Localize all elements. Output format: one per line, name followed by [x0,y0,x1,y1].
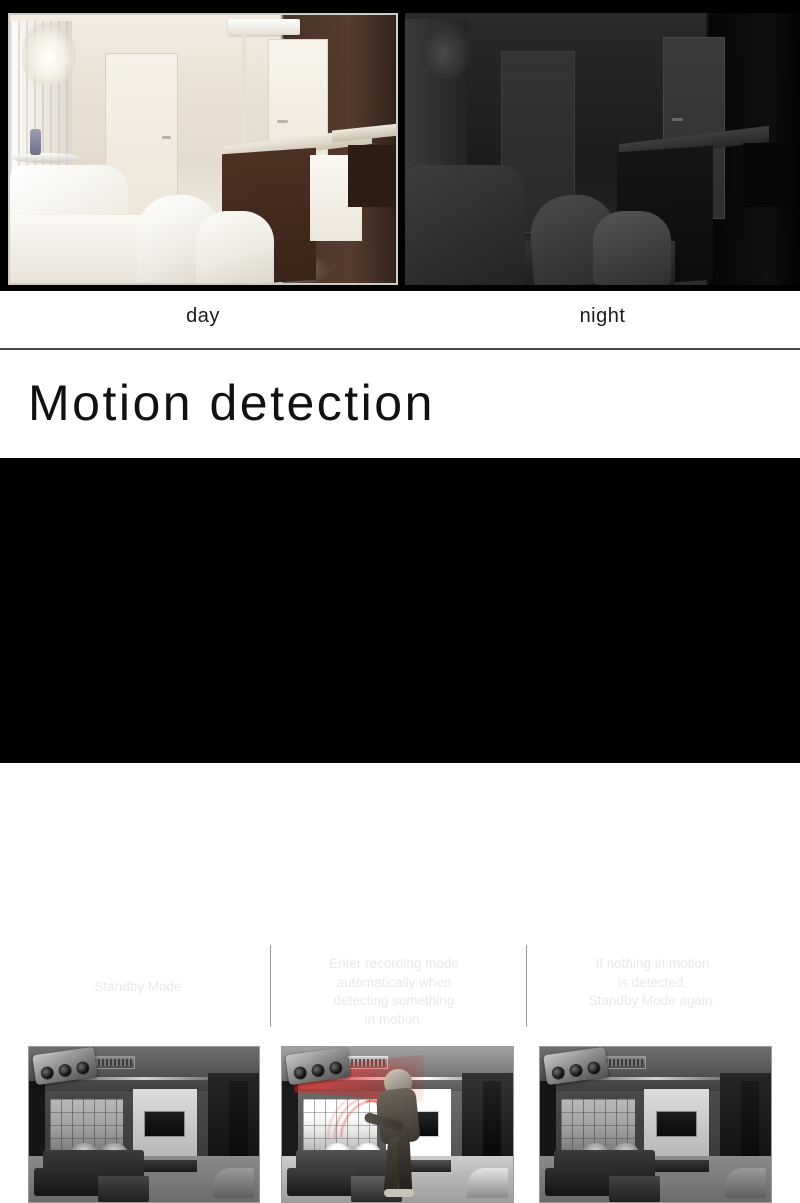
television [656,1111,698,1137]
vase [30,129,41,155]
shelf-niche-night [743,143,793,207]
intruder-figure [370,1069,432,1197]
night-camera-view [405,13,800,285]
glass-table [12,153,80,163]
figure-foot [384,1189,414,1197]
stairs [725,1168,767,1198]
left-dark-wall [29,1081,45,1161]
sofa-night [405,165,525,285]
product-feature-page: day night Motion detection Standby Mode … [0,0,800,800]
night-scene-image [405,13,800,285]
sofa-side [287,1168,356,1196]
comparison-caption-band: day night [0,291,800,348]
chandelier-icon-night [417,21,469,79]
stairs [467,1168,509,1198]
scene-standby [28,1046,260,1203]
shelf-niche [348,145,396,207]
day-label: day [8,305,398,328]
left-dark-wall [282,1081,298,1161]
column-divider-2 [526,945,527,1027]
day-night-comparison-band [0,0,800,291]
ottoman [98,1176,149,1202]
sofa-side [34,1168,103,1196]
day-camera-view [8,13,398,285]
television [144,1111,185,1137]
page-title: Motion detection [28,372,435,434]
chair-night-2 [593,211,671,285]
tv-console [649,1160,709,1172]
sofa-side [545,1168,614,1196]
white-chair-2 [196,211,274,285]
chandelier-icon [22,23,76,85]
ottoman [609,1176,660,1202]
scene-standby-again [539,1046,772,1203]
left-dark-wall [540,1081,556,1161]
step-caption-recording: Enter recording mode automatically when … [288,955,500,1029]
white-sofa-seat [8,215,154,285]
scene-recording [281,1046,514,1203]
column-divider-1 [270,945,271,1027]
step-caption-standby: Standby Mode [48,978,228,997]
night-label: night [405,305,800,328]
air-conditioner [228,19,300,35]
tv-console [137,1160,197,1172]
heading-band: Motion detection [0,350,800,458]
day-scene-image [10,15,396,283]
stairs [213,1168,254,1198]
step-caption-standby-again: If nothing in motion is detected, Standb… [545,955,760,1011]
motion-detection-section: Standby Mode Enter recording mode automa… [0,458,800,763]
figure-leg [397,1139,413,1194]
